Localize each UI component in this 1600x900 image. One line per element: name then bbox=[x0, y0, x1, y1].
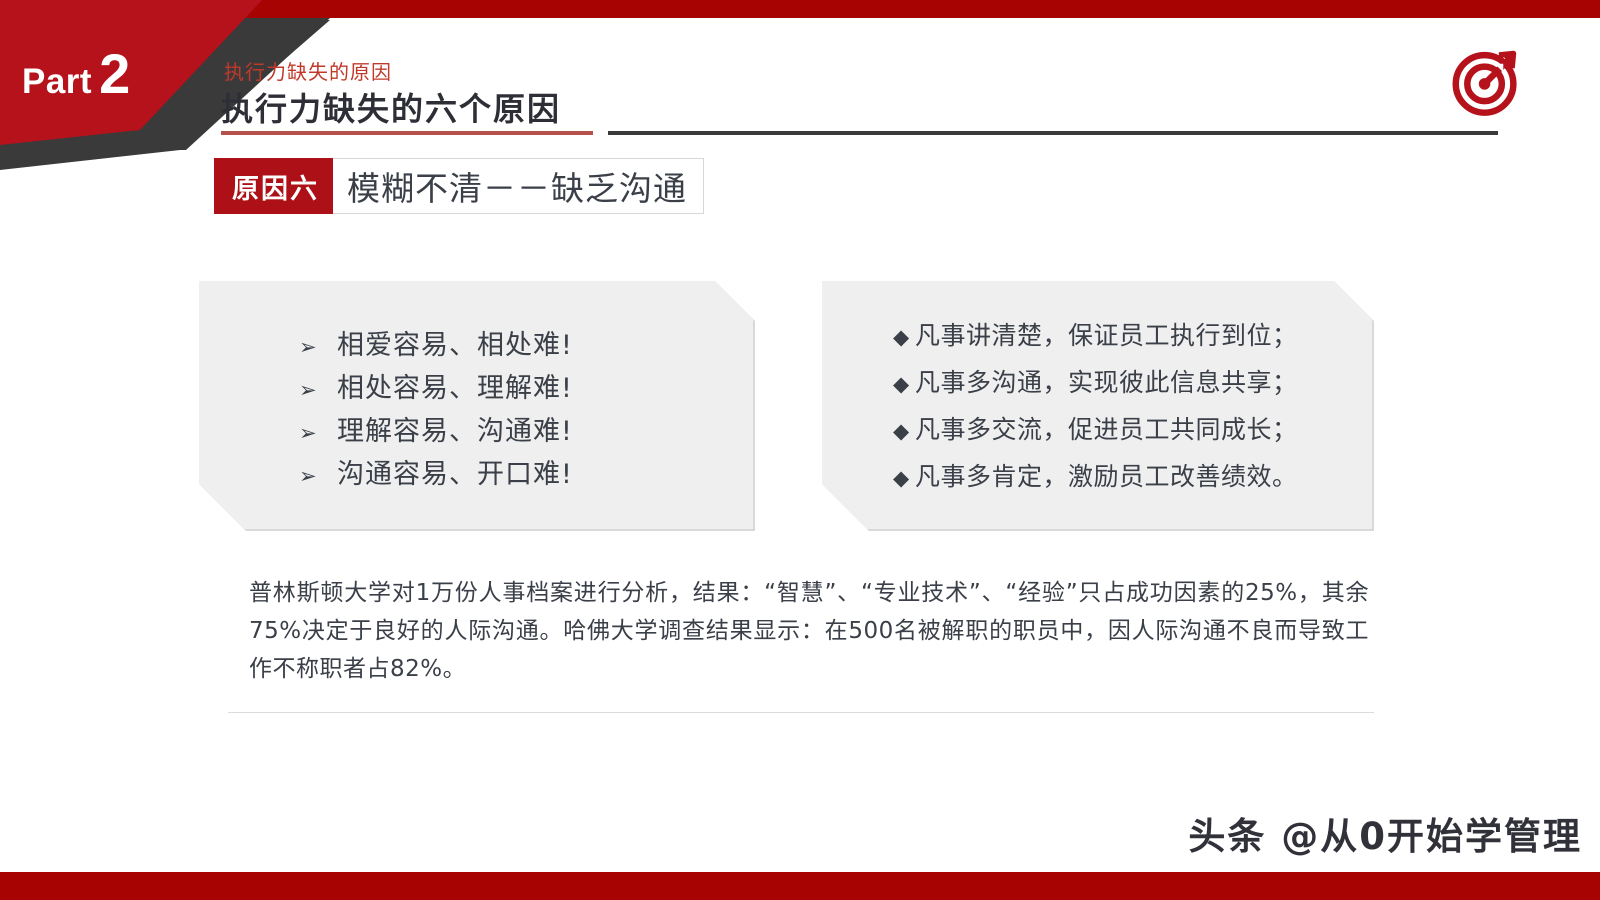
list-item: ➢ 沟通容易、开口难! bbox=[299, 454, 573, 497]
left-bullet-list: ➢ 相爱容易、相处难! ➢ 相处容易、理解难! ➢ 理解容易、沟通难! ➢ 沟通… bbox=[299, 325, 573, 497]
reason-badge-tag: 原因六 bbox=[214, 158, 333, 214]
arrow-bullet-icon: ➢ bbox=[299, 369, 337, 411]
list-item: ◆ 凡事多肯定，激励员工改善绩效。 bbox=[893, 454, 1298, 501]
list-item-label: 凡事讲清楚，保证员工执行到位； bbox=[915, 313, 1298, 358]
part-word: Part bbox=[22, 62, 92, 101]
watermark: 头条 @从0开始学管理 bbox=[1188, 806, 1582, 860]
top-accent-bar bbox=[0, 0, 1600, 18]
list-item-label: 凡事多交流，促进员工共同成长； bbox=[915, 407, 1298, 452]
target-bullseye-arrow-icon bbox=[1450, 45, 1522, 117]
list-item: ➢ 相爱容易、相处难! bbox=[299, 325, 573, 368]
list-item-label: 理解容易、沟通难! bbox=[337, 411, 573, 453]
arrow-bullet-icon: ➢ bbox=[299, 412, 337, 454]
arrow-bullet-icon: ➢ bbox=[299, 455, 337, 497]
list-item: ◆ 凡事多沟通，实现彼此信息共享； bbox=[893, 360, 1298, 407]
diamond-bullet-icon: ◆ bbox=[893, 456, 915, 501]
list-item: ◆ 凡事多交流，促进员工共同成长； bbox=[893, 407, 1298, 454]
header-kicker: 执行力缺失的原因 bbox=[224, 56, 392, 85]
list-item-label: 凡事多肯定，激励员工改善绩效。 bbox=[915, 454, 1298, 499]
list-item-label: 凡事多沟通，实现彼此信息共享； bbox=[915, 360, 1298, 405]
bottom-accent-bar bbox=[0, 872, 1600, 900]
list-item-label: 沟通容易、开口难! bbox=[337, 454, 573, 496]
list-item: ➢ 理解容易、沟通难! bbox=[299, 411, 573, 454]
list-item: ➢ 相处容易、理解难! bbox=[299, 368, 573, 411]
part-label: Part2 bbox=[22, 46, 130, 102]
content-divider bbox=[228, 712, 1374, 713]
right-bullet-list: ◆ 凡事讲清楚，保证员工执行到位； ◆ 凡事多沟通，实现彼此信息共享； ◆ 凡事… bbox=[893, 313, 1298, 501]
arrow-bullet-icon: ➢ bbox=[299, 326, 337, 368]
diamond-bullet-icon: ◆ bbox=[893, 409, 915, 454]
reason-badge: 原因六 模糊不清－－缺乏沟通 bbox=[214, 158, 704, 214]
list-item-label: 相爱容易、相处难! bbox=[337, 325, 573, 367]
diamond-bullet-icon: ◆ bbox=[893, 362, 915, 407]
body-paragraph: 普林斯顿大学对1万份人事档案进行分析，结果：“智慧”、“专业技术”、“经验”只占… bbox=[249, 574, 1369, 688]
title-underline-red bbox=[221, 131, 593, 135]
part-number: 2 bbox=[99, 42, 130, 105]
list-item: ◆ 凡事讲清楚，保证员工执行到位； bbox=[893, 313, 1298, 360]
diamond-bullet-icon: ◆ bbox=[893, 315, 915, 360]
title-rule-dark bbox=[608, 131, 1498, 135]
list-item-label: 相处容易、理解难! bbox=[337, 368, 573, 410]
reason-badge-title: 模糊不清－－缺乏沟通 bbox=[333, 158, 704, 214]
page-title: 执行力缺失的六个原因 bbox=[221, 84, 561, 130]
